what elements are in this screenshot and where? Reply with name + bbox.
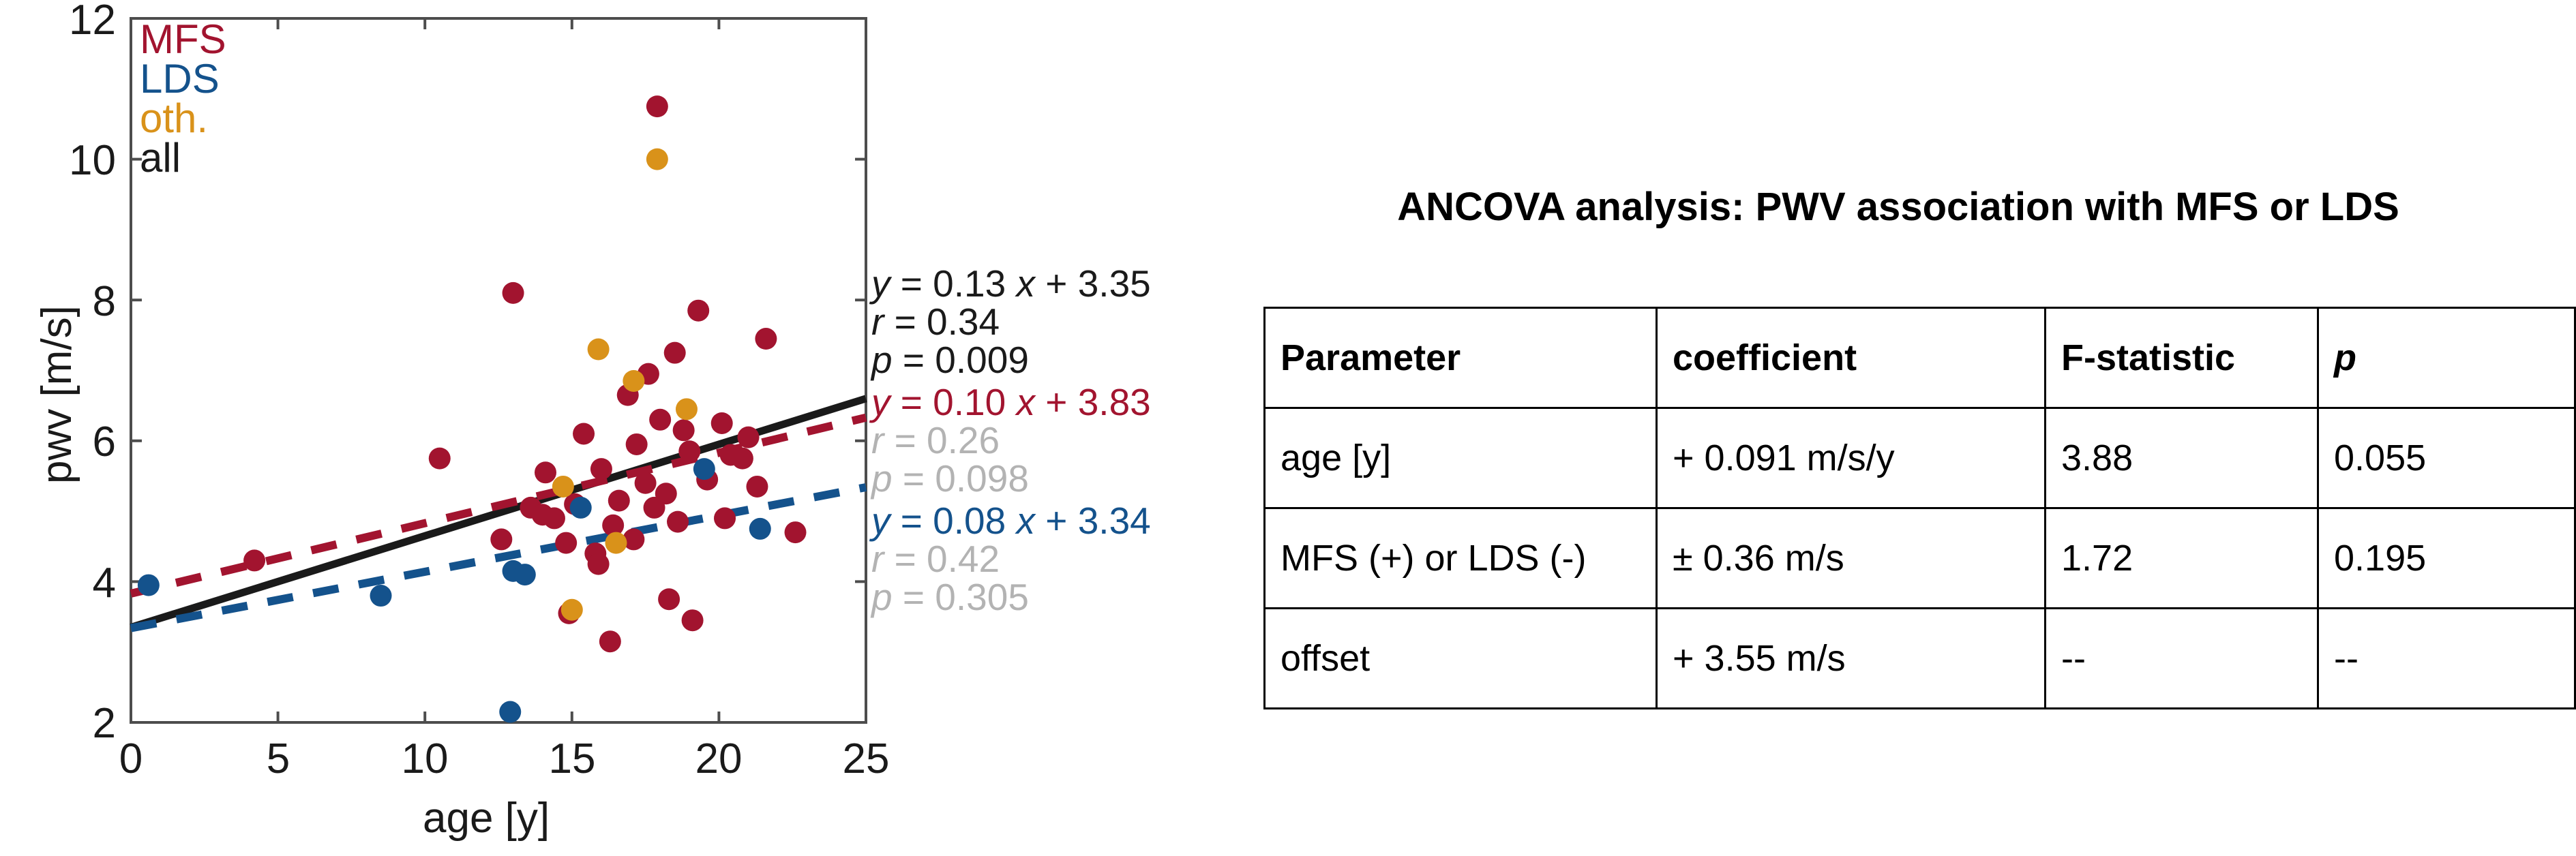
data-point-mfs [599,630,621,652]
annotation-mfs-p: p = 0.098 [871,459,1029,498]
annot-var: r [871,419,884,461]
cell-fstatistic: 3.88 [2046,408,2318,508]
data-point-mfs [644,497,665,519]
annot-var: p [871,576,893,618]
data-point-oth [561,599,583,621]
data-point-oth [676,398,698,420]
data-point-mfs [555,532,577,554]
cell-p: 0.195 [2318,508,2575,609]
data-point-mfs [490,528,512,550]
data-point-mfs [738,427,760,448]
data-point-oth [646,149,668,170]
legend-item-mfs: MFS [140,19,226,60]
cell-parameter: offset [1265,609,1657,709]
data-point-mfs [503,282,524,304]
annotation-mfs-equation: y = 0.10 x + 3.83 [871,383,1151,421]
cell-p: -- [2318,609,2575,709]
data-point-mfs [429,448,451,470]
data-point-lds [749,518,771,540]
data-point-mfs [682,609,704,631]
annotation-lds-equation: y = 0.08 x + 3.34 [871,502,1151,540]
annot-rest: = 0.305 [893,576,1029,618]
annot-end: + 3.34 [1035,500,1151,542]
annot-end: + 3.35 [1035,262,1151,305]
data-point-mfs [755,328,777,350]
annot-mid: = 0.10 [890,381,1017,423]
annot-mid: = 0.13 [890,262,1017,305]
legend-item-oth: oth. [140,98,208,139]
header-p: p [2318,308,2575,408]
cell-parameter: age [y] [1265,408,1657,508]
data-point-oth [605,532,627,554]
cell-fstatistic: -- [2046,609,2318,709]
data-point-mfs [649,409,671,431]
table-header-row: Parameter coefficient F-statistic p [1265,308,2575,408]
data-point-mfs [664,342,686,364]
x-tick-label: 0 [97,735,165,783]
y-tick-label: 12 [61,0,116,44]
y-axis-title: pwv [m/s] [33,305,81,484]
data-point-lds [499,701,521,723]
annot-var: p [871,339,893,381]
data-point-mfs [667,511,689,533]
cell-coefficient: + 3.55 m/s [1657,609,2046,709]
data-point-mfs [687,300,709,322]
annot-rest: = 0.26 [884,419,1000,461]
data-point-mfs [588,553,610,575]
x-tick-label: 15 [538,735,606,783]
annotation-all-p: p = 0.009 [871,341,1029,379]
annot-rest: = 0.42 [884,538,1000,580]
table-row: offset+ 3.55 m/s---- [1265,609,2575,709]
annot-x: x [1017,500,1036,542]
annotation-mfs-r: r = 0.26 [871,421,1000,459]
data-point-mfs [711,412,733,434]
annot-x: x [1017,262,1036,305]
data-point-mfs [658,588,680,610]
data-point-mfs [608,490,630,512]
y-tick-label: 4 [61,559,116,607]
annotation-lds-p: p = 0.305 [871,578,1029,616]
annot-var: r [871,538,884,580]
data-point-mfs [573,423,595,444]
data-point-mfs [626,433,648,455]
x-axis-title: age [y] [423,794,550,842]
legend-item-all: all [140,138,181,179]
x-tick-label: 25 [832,735,900,783]
x-tick-label: 20 [685,735,753,783]
data-point-lds [693,458,715,480]
data-point-mfs [678,440,700,462]
data-point-mfs [714,507,736,529]
annotation-all-equation: y = 0.13 x + 3.35 [871,264,1151,303]
annot-mid: = 0.08 [890,500,1017,542]
annot-var: y [871,262,890,305]
annot-rest: = 0.34 [884,301,1000,343]
data-point-lds [370,585,392,607]
cell-coefficient: + 0.091 m/s/y [1657,408,2046,508]
legend-item-lds: LDS [140,59,220,100]
x-tick-label: 10 [391,735,459,783]
data-point-mfs [785,521,807,543]
data-point-lds [570,497,592,519]
annotation-lds-r: r = 0.42 [871,540,1000,578]
annot-var: p [871,457,893,500]
x-tick-label: 5 [244,735,312,783]
header-fstatistic: F-statistic [2046,308,2318,408]
data-point-mfs [732,448,753,470]
data-point-mfs [673,419,695,441]
table-row: MFS (+) or LDS (-)± 0.36 m/s1.720.195 [1265,508,2575,609]
scatter-points [138,95,807,722]
data-point-mfs [746,476,768,498]
axes-frame [131,18,866,722]
annot-rest: = 0.009 [893,339,1029,381]
annot-rest: = 0.098 [893,457,1029,500]
data-point-mfs [646,95,668,117]
cell-coefficient: ± 0.36 m/s [1657,508,2046,609]
annot-x: x [1017,381,1036,423]
data-point-mfs [635,472,657,494]
table-row: age [y]+ 0.091 m/s/y3.880.055 [1265,408,2575,508]
y-tick-label: 10 [61,136,116,185]
ancova-table-title: ANCOVA analysis: PWV association with MF… [1220,184,2576,230]
annot-var: y [871,381,890,423]
data-point-lds [514,564,536,585]
data-point-lds [138,575,160,596]
data-point-oth [552,476,574,498]
annotation-all-r: r = 0.34 [871,303,1000,341]
data-point-mfs [543,507,565,529]
annot-var: y [871,500,890,542]
cell-parameter: MFS (+) or LDS (-) [1265,508,1657,609]
data-point-oth [588,339,610,361]
header-coefficient: coefficient [1657,308,2046,408]
ancova-table-panel: ANCOVA analysis: PWV association with MF… [1220,0,2576,856]
annot-end: + 3.83 [1035,381,1151,423]
axis-ticks [131,18,866,722]
cell-fstatistic: 1.72 [2046,508,2318,609]
data-point-mfs [243,549,265,571]
data-point-mfs [590,458,612,480]
ancova-table: Parameter coefficient F-statistic p age … [1263,307,2576,709]
data-point-oth [623,370,644,392]
cell-p: 0.055 [2318,408,2575,508]
data-point-mfs [535,461,556,483]
annot-var: r [871,301,884,343]
header-parameter: Parameter [1265,308,1657,408]
scatter-figure-panel: 12 10 8 6 4 2 0 5 10 15 20 25 age [y] pw… [0,0,1220,856]
